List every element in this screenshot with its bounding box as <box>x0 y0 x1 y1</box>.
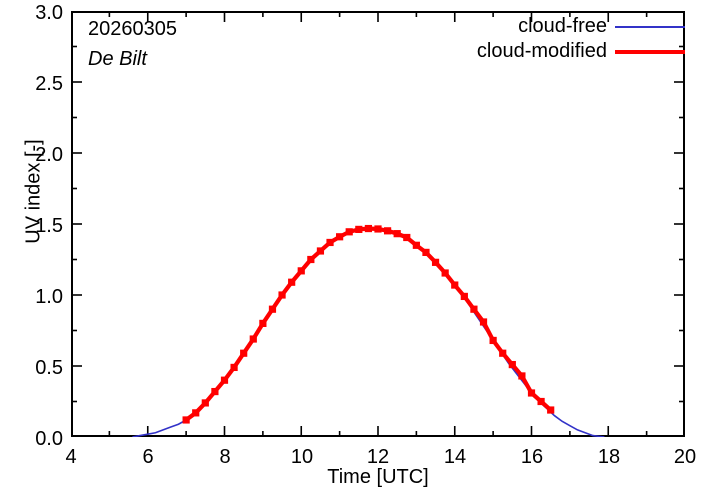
x-tick-label-20: 20 <box>665 447 702 467</box>
x-tick-label-14: 14 <box>435 447 475 467</box>
uv-index-chart: 3.0 2.5 2.0 1.5 1.0 0.5 0.0 4 6 8 10 12 … <box>0 0 702 497</box>
y-tick-label-2.5: 2.5 <box>8 74 63 94</box>
x-tick-label-4: 4 <box>51 447 91 467</box>
series-line-cloud-modified <box>186 229 551 420</box>
axis-ticks <box>71 11 685 437</box>
plot-canvas <box>71 11 685 437</box>
x-tick-label-12: 12 <box>358 447 398 467</box>
x-tick-label-8: 8 <box>205 447 245 467</box>
series-markers-cloud-modified <box>183 225 555 424</box>
y-axis-title: UV index [-] <box>23 112 46 272</box>
y-tick-label-0.5: 0.5 <box>8 358 63 378</box>
x-tick-label-18: 18 <box>589 447 629 467</box>
y-tick-label-0.0: 0.0 <box>8 429 63 449</box>
x-tick-label-10: 10 <box>282 447 322 467</box>
y-tick-label-1.0: 1.0 <box>8 287 63 307</box>
x-tick-label-16: 16 <box>512 447 552 467</box>
x-tick-label-6: 6 <box>128 447 168 467</box>
y-tick-label-3.0: 3.0 <box>8 3 63 23</box>
x-axis-title: Time [UTC] <box>71 466 685 489</box>
